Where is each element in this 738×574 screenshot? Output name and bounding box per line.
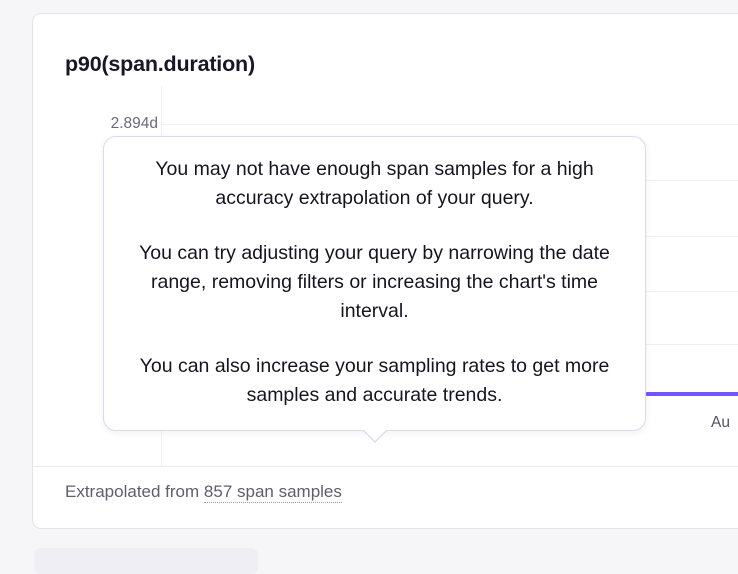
span-samples-link[interactable]: 857 span samples (204, 482, 342, 503)
card-divider (33, 466, 738, 467)
loading-skeleton-block (34, 548, 258, 574)
x-axis-tick-label: Au (711, 414, 730, 432)
y-axis-tick-label: 2.894d (111, 115, 158, 133)
extrapolation-footer-prefix: Extrapolated from (65, 482, 204, 501)
chart-series-line (646, 392, 738, 396)
screen-root: p90(span.duration) 2.894d 2 1 1 13.8 Au (0, 0, 738, 560)
tooltip-paragraph-1: You may not have enough span samples for… (130, 155, 619, 213)
chart-gridline (161, 124, 738, 125)
sampling-warning-tooltip: You may not have enough span samples for… (103, 136, 646, 431)
widget-title: p90(span.duration) (65, 52, 255, 77)
tooltip-arrow (363, 429, 387, 441)
tooltip-paragraph-3: You can also increase your sampling rate… (130, 352, 619, 410)
extrapolation-footer: Extrapolated from 857 span samples (65, 482, 342, 502)
tooltip-paragraph-2: You can try adjusting your query by narr… (130, 239, 619, 326)
